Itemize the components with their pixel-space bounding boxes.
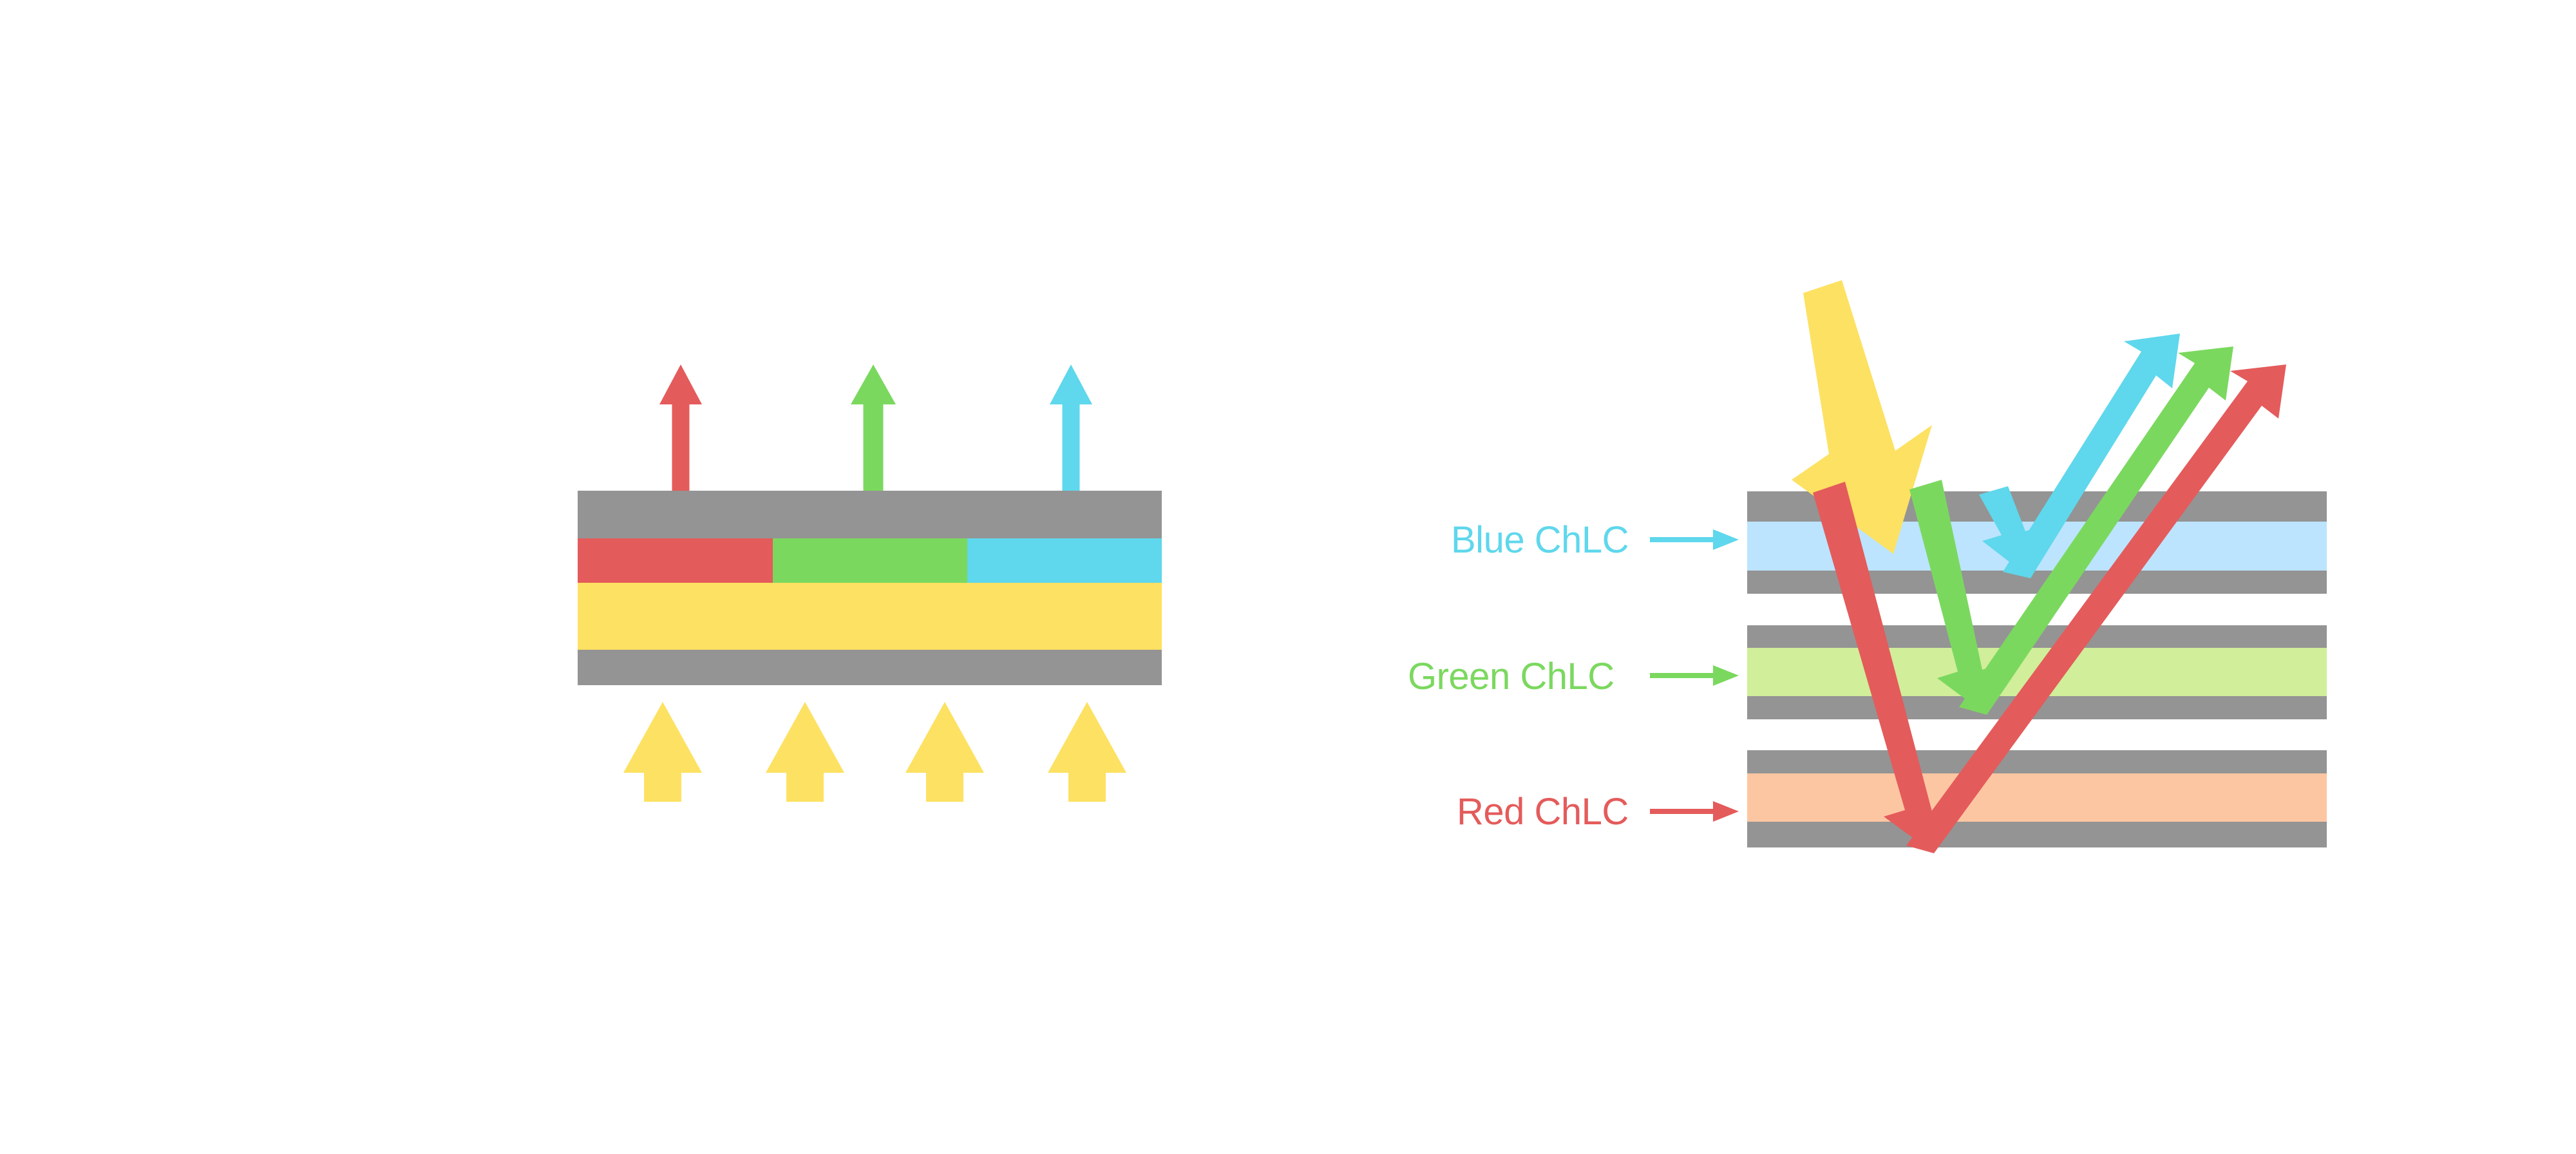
diagram-canvas: Blue ChLCGreen ChLCRed ChLC xyxy=(0,0,2576,1154)
blue-cell-top-electrode xyxy=(1747,491,2327,522)
green-chlc-cell-label: Green ChLC xyxy=(1408,658,1615,695)
blue-chlc-layer xyxy=(1747,522,2327,571)
green-cell-top-electrode xyxy=(1747,625,2327,648)
green-chlc-pointer xyxy=(1650,656,1739,695)
red-cell-bottom-electrode xyxy=(1747,822,2327,847)
green-chlc-layer xyxy=(1747,648,2327,696)
red-chlc-cell-label: Red ChLC xyxy=(1457,793,1629,831)
red-chlc-pointer xyxy=(1650,792,1739,831)
blue-chlc-pointer xyxy=(1650,520,1739,559)
green-cell-bottom-electrode xyxy=(1747,696,2327,719)
blue-cell-bottom-electrode xyxy=(1747,571,2327,594)
right-panel: Blue ChLCGreen ChLCRed ChLC xyxy=(0,0,2576,1154)
red-cell-top-electrode xyxy=(1747,750,2327,773)
red-chlc-layer xyxy=(1747,773,2327,822)
blue-chlc-cell-label: Blue ChLC xyxy=(1451,522,1629,559)
